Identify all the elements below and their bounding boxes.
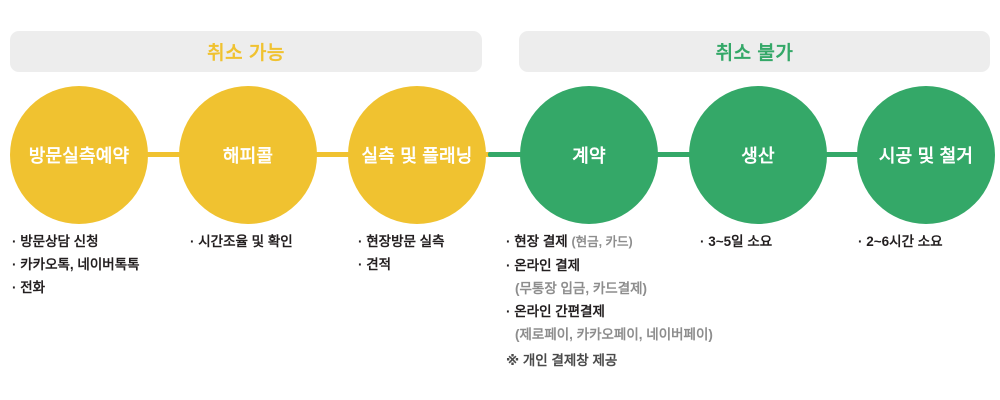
detail-list-install-removal: · 2~6시간 소요 bbox=[858, 230, 1000, 253]
detail-item: · 카카오톡, 네이버톡톡 bbox=[12, 253, 187, 276]
step-node-happy-call[interactable]: 해피콜 bbox=[179, 86, 317, 224]
detail-item: · 현장방문 실측 bbox=[358, 230, 503, 253]
detail-item-suffix: (현금, 카드) bbox=[571, 235, 632, 249]
step-label: 생산 bbox=[741, 142, 775, 168]
detail-subitem: (무통장 입금, 카드결제) bbox=[506, 277, 751, 300]
detail-item: · 3~5일 소요 bbox=[700, 230, 850, 253]
section-title-cancelable: 취소 가능 bbox=[207, 38, 285, 65]
step-label: 시공 및 철거 bbox=[879, 142, 973, 168]
detail-item-text: · 현장 결제 bbox=[506, 234, 568, 249]
detail-item: · 전화 bbox=[12, 276, 187, 299]
detail-note: ※ 개인 결제창 제공 bbox=[506, 346, 751, 372]
step-node-install-removal[interactable]: 시공 및 철거 bbox=[857, 86, 995, 224]
detail-list-measure-planning: · 현장방문 실측 · 견적 bbox=[358, 230, 503, 276]
process-flow-diagram: 취소 가능 취소 불가 방문실측예약 해피콜 실측 및 플래닝 계약 생산 시공… bbox=[0, 0, 1000, 400]
section-title-noncancelable: 취소 불가 bbox=[716, 38, 794, 65]
step-node-visit-measure-booking[interactable]: 방문실측예약 bbox=[10, 86, 148, 224]
detail-item: · 시간조율 및 확인 bbox=[190, 230, 355, 253]
section-header-cancelable: 취소 가능 bbox=[10, 31, 482, 72]
detail-subitem: (제로페이, 카카오페이, 네이버페이) bbox=[506, 323, 751, 346]
step-label: 방문실측예약 bbox=[29, 142, 130, 168]
detail-item: · 견적 bbox=[358, 253, 503, 276]
detail-item: · 방문상담 신청 bbox=[12, 230, 187, 253]
detail-item: · 온라인 결제 bbox=[506, 254, 751, 277]
detail-item: · 온라인 간편결제 bbox=[506, 300, 751, 323]
detail-list-visit-measure-booking: · 방문상담 신청 · 카카오톡, 네이버톡톡 · 전화 bbox=[12, 230, 187, 300]
step-node-measure-planning[interactable]: 실측 및 플래닝 bbox=[348, 86, 486, 224]
step-label: 실측 및 플래닝 bbox=[362, 142, 473, 168]
detail-item: · 2~6시간 소요 bbox=[858, 230, 1000, 253]
step-node-production[interactable]: 생산 bbox=[689, 86, 827, 224]
section-header-noncancelable: 취소 불가 bbox=[519, 31, 990, 72]
detail-list-production: · 3~5일 소요 bbox=[700, 230, 850, 253]
detail-list-happy-call: · 시간조율 및 확인 bbox=[190, 230, 355, 253]
step-label: 해피콜 bbox=[223, 142, 273, 168]
step-node-contract[interactable]: 계약 bbox=[520, 86, 658, 224]
step-label: 계약 bbox=[572, 142, 606, 168]
